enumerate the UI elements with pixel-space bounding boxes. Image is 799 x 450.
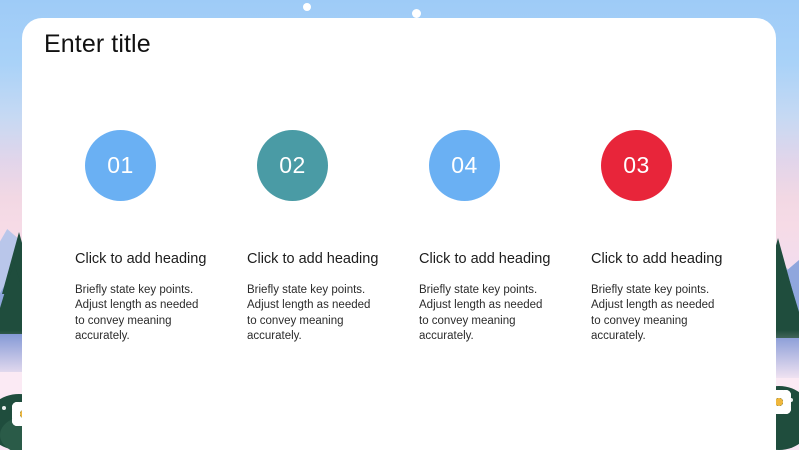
column-item[interactable]: 04 Click to add heading Briefly state ke… — [397, 130, 569, 345]
page-title[interactable]: Enter title — [44, 30, 151, 59]
column-item[interactable]: 01 Click to add heading Briefly state ke… — [53, 130, 225, 345]
step-number-label: 03 — [623, 152, 650, 179]
step-number-badge[interactable]: 03 — [601, 130, 672, 201]
column-heading[interactable]: Click to add heading — [591, 251, 741, 267]
column-body[interactable]: Briefly state key points. Adjust length … — [591, 283, 723, 345]
step-number-label: 04 — [451, 152, 478, 179]
sparkle-dot-icon — [412, 9, 421, 18]
step-number-badge[interactable]: 02 — [257, 130, 328, 201]
step-number-badge[interactable]: 01 — [85, 130, 156, 201]
column-item[interactable]: 03 Click to add heading Briefly state ke… — [569, 130, 741, 345]
column-heading[interactable]: Click to add heading — [419, 251, 569, 267]
step-number-label: 01 — [107, 152, 134, 179]
step-number-badge[interactable]: 04 — [429, 130, 500, 201]
slide-canvas: Enter title 01 Click to add heading Brie… — [0, 0, 799, 450]
leaf-speck — [2, 406, 6, 410]
column-heading[interactable]: Click to add heading — [75, 251, 225, 267]
step-number-label: 02 — [279, 152, 306, 179]
column-heading[interactable]: Click to add heading — [247, 251, 397, 267]
column-body[interactable]: Briefly state key points. Adjust length … — [75, 283, 207, 345]
column-body[interactable]: Briefly state key points. Adjust length … — [247, 283, 379, 345]
column-item[interactable]: 02 Click to add heading Briefly state ke… — [225, 130, 397, 345]
columns-container: 01 Click to add heading Briefly state ke… — [22, 130, 776, 345]
sparkle-dot-icon — [303, 3, 311, 11]
column-body[interactable]: Briefly state key points. Adjust length … — [419, 283, 551, 345]
content-card: Enter title 01 Click to add heading Brie… — [22, 18, 776, 450]
